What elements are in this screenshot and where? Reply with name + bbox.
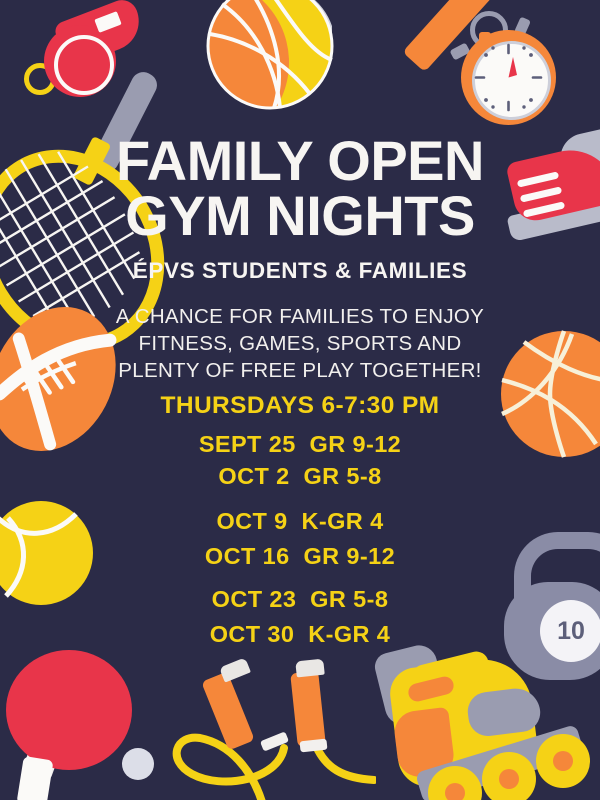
- schedule-row: OCT 23 GR 5-8: [0, 586, 600, 613]
- poster-text-block: FAMILY OPEN GYM NIGHTS ÉPVS STUDENTS & F…: [0, 0, 600, 800]
- description-line-3: PLENTY OF FREE PLAY TOGETHER!: [0, 357, 600, 384]
- poster: 10 FAMILY OPEN GYM NIGHTS: [0, 0, 600, 800]
- title-line-1: FAMILY OPEN: [0, 133, 600, 188]
- description-line-2: FITNESS, GAMES, SPORTS AND: [0, 330, 600, 357]
- schedule-row: OCT 16 GR 9-12: [0, 543, 600, 570]
- description: A CHANCE FOR FAMILIES TO ENJOY FITNESS, …: [0, 303, 600, 384]
- schedule-row: OCT 9 K-GR 4: [0, 508, 600, 535]
- title-line-2: GYM NIGHTS: [0, 188, 600, 243]
- schedule-row: OCT 30 K-GR 4: [0, 621, 600, 648]
- page-title: FAMILY OPEN GYM NIGHTS: [0, 133, 600, 244]
- schedule-row: OCT 2 GR 5-8: [0, 463, 600, 490]
- schedule-row: SEPT 25 GR 9-12: [0, 431, 600, 458]
- subtitle: ÉPVS STUDENTS & FAMILIES: [0, 258, 600, 284]
- description-line-1: A CHANCE FOR FAMILIES TO ENJOY: [0, 303, 600, 330]
- event-time: THURSDAYS 6-7:30 PM: [0, 392, 600, 420]
